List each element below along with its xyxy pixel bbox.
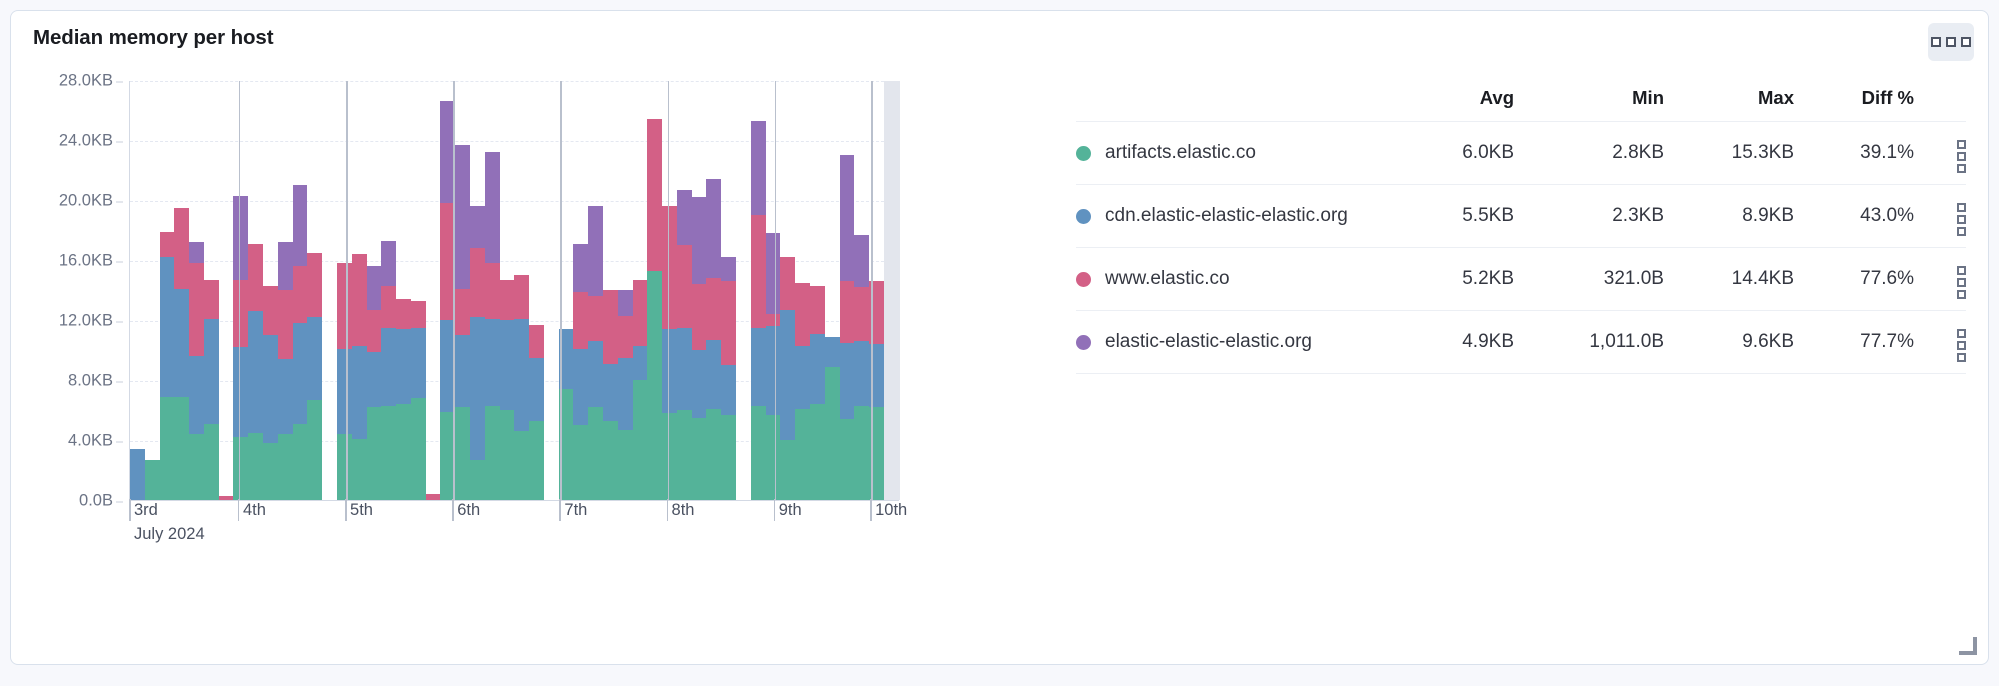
column-header-max[interactable]: Max xyxy=(1664,83,1794,122)
bar-segment xyxy=(840,419,855,500)
legend-max-value: 9.6KB xyxy=(1664,311,1794,374)
y-axis: 0.0B4.0KB8.0KB12.0KB16.0KB20.0KB24.0KB28… xyxy=(19,81,127,501)
bar-stack[interactable] xyxy=(189,81,204,500)
bar-segment xyxy=(840,155,855,281)
bar-segment xyxy=(160,232,175,258)
bar-segment xyxy=(470,248,485,317)
bar-segment xyxy=(160,397,175,501)
bar-segment xyxy=(751,406,766,501)
x-axis-tick-label: 3rd xyxy=(129,501,158,520)
bar-segment xyxy=(618,430,633,501)
bar-segment xyxy=(278,359,293,434)
y-axis-tick-label: 4.0KB xyxy=(68,432,113,451)
bar-stack[interactable] xyxy=(426,81,441,500)
bar-segment xyxy=(381,328,396,406)
bar-segment xyxy=(411,398,426,500)
series-color-swatch-icon xyxy=(1076,335,1091,350)
bar-segment xyxy=(455,407,470,500)
bar-stack[interactable] xyxy=(603,81,618,500)
bar-segment xyxy=(396,329,411,404)
bar-segment xyxy=(263,286,278,336)
legend-avg-value: 5.5KB xyxy=(1394,185,1514,248)
bar-stack[interactable] xyxy=(307,81,322,500)
bar-stack[interactable] xyxy=(233,81,248,500)
bar-stack[interactable] xyxy=(352,81,367,500)
bar-segment xyxy=(633,346,648,381)
bar-segment xyxy=(367,352,382,408)
bar-segment xyxy=(189,434,204,500)
series-color-swatch-icon xyxy=(1076,146,1091,161)
bar-stack[interactable] xyxy=(411,81,426,500)
bar-segment xyxy=(692,284,707,350)
series-color-swatch-icon xyxy=(1076,209,1091,224)
legend-max-value: 14.4KB xyxy=(1664,248,1794,311)
bar-segment xyxy=(352,254,367,346)
bar-stack[interactable] xyxy=(588,81,603,500)
bar-segment xyxy=(219,496,234,501)
x-axis-tick-label: 8th xyxy=(667,501,695,520)
table-row[interactable]: elastic-elastic-elastic.org4.9KB1,011.0B… xyxy=(1076,311,1966,374)
bar-stack[interactable] xyxy=(145,81,160,500)
column-header-diff[interactable]: Diff % xyxy=(1794,83,1914,122)
bar-segment xyxy=(337,434,352,500)
bar-segment xyxy=(307,400,322,501)
y-axis-tick-label: 20.0KB xyxy=(59,192,113,211)
bar-segment xyxy=(233,347,248,437)
legend-table-container: Avg Min Max Diff % artifacts.elastic.co6… xyxy=(1076,83,1966,374)
bar-segment xyxy=(263,443,278,500)
bar-stack[interactable] xyxy=(367,81,382,500)
bar-segment xyxy=(233,437,248,500)
bar-segment xyxy=(795,409,810,501)
bar-stack[interactable] xyxy=(633,81,648,500)
bar-segment xyxy=(766,233,781,314)
bar-segment xyxy=(470,460,485,501)
bar-segment xyxy=(500,410,515,500)
table-row[interactable]: cdn.elastic-elastic-elastic.org5.5KB2.3K… xyxy=(1076,185,1966,248)
bar-segment xyxy=(293,185,308,266)
y-axis-tick-label: 8.0KB xyxy=(68,372,113,391)
bar-segment xyxy=(381,286,396,328)
legend-min-value: 2.3KB xyxy=(1514,185,1664,248)
bar-segment xyxy=(647,119,662,271)
panel-resize-handle[interactable] xyxy=(1961,639,1977,655)
panel-header: Median memory per host xyxy=(11,11,1988,65)
panel-context-menu-button[interactable] xyxy=(1928,23,1974,61)
x-axis-sublabel: July 2024 xyxy=(129,525,205,544)
bar-segment xyxy=(692,197,707,284)
bar-segment xyxy=(780,440,795,500)
legend-diff-value: 77.7% xyxy=(1794,311,1914,374)
bar-segment xyxy=(840,281,855,343)
bar-stack[interactable] xyxy=(130,81,145,500)
bar-stack[interactable] xyxy=(677,81,692,500)
bar-segment xyxy=(751,121,766,216)
x-axis-tick-label: 5th xyxy=(345,501,373,520)
table-row[interactable]: artifacts.elastic.co6.0KB2.8KB15.3KB39.1… xyxy=(1076,122,1966,185)
bar-segment xyxy=(367,407,382,500)
bar-segment xyxy=(810,334,825,405)
bar-segment xyxy=(500,280,515,321)
bar-segment xyxy=(780,257,795,310)
bar-stack[interactable] xyxy=(529,81,544,500)
bar-segment xyxy=(352,439,367,501)
bar-segment xyxy=(396,299,411,329)
bar-series-group xyxy=(130,81,899,500)
bar-segment xyxy=(677,328,692,411)
day-separator-line xyxy=(668,81,670,500)
partial-bucket-overlay xyxy=(884,81,900,500)
bar-segment xyxy=(204,424,219,501)
legend-min-value: 2.8KB xyxy=(1514,122,1664,185)
legend-table-body: artifacts.elastic.co6.0KB2.8KB15.3KB39.1… xyxy=(1076,122,1966,374)
legend-series-label: cdn.elastic-elastic-elastic.org xyxy=(1105,205,1348,227)
bar-stack[interactable] xyxy=(219,81,234,500)
bar-segment xyxy=(721,365,736,415)
bar-segment xyxy=(337,349,352,435)
bar-segment xyxy=(278,434,293,500)
bar-segment xyxy=(263,335,278,443)
legend-series-label: elastic-elastic-elastic.org xyxy=(1105,331,1312,353)
bar-stack[interactable] xyxy=(381,81,396,500)
legend-max-value: 8.9KB xyxy=(1664,185,1794,248)
bar-segment xyxy=(618,316,633,358)
legend-diff-value: 43.0% xyxy=(1794,185,1914,248)
chart-container: 0.0B4.0KB8.0KB12.0KB16.0KB20.0KB24.0KB28… xyxy=(19,65,1059,665)
bar-segment xyxy=(411,301,426,328)
bar-stack[interactable] xyxy=(248,81,263,500)
bar-segment xyxy=(854,406,869,501)
legend-series-name-cell[interactable]: cdn.elastic-elastic-elastic.org xyxy=(1076,185,1394,248)
three-dots-horizontal-icon xyxy=(1961,37,1971,47)
bar-segment xyxy=(485,406,500,501)
bar-segment xyxy=(367,266,382,310)
bar-segment xyxy=(766,326,781,415)
bar-stack[interactable] xyxy=(647,81,662,500)
bar-stack[interactable] xyxy=(278,81,293,500)
three-dots-horizontal-icon xyxy=(1931,37,1941,47)
legend-diff-value: 77.6% xyxy=(1794,248,1914,311)
column-header-avg[interactable]: Avg xyxy=(1394,83,1514,122)
bar-segment xyxy=(588,407,603,500)
day-separator-line xyxy=(346,81,348,500)
panel-body: 0.0B4.0KB8.0KB12.0KB16.0KB20.0KB24.0KB28… xyxy=(11,65,1988,664)
bar-segment xyxy=(470,206,485,248)
bar-segment xyxy=(603,421,618,501)
bar-segment xyxy=(455,335,470,407)
bar-stack[interactable] xyxy=(721,81,736,500)
legend-table: Avg Min Max Diff % artifacts.elastic.co6… xyxy=(1076,83,1966,374)
x-axis-tick-label: 4th xyxy=(238,501,266,520)
bar-segment xyxy=(174,289,189,397)
bar-segment xyxy=(485,152,500,263)
bar-segment xyxy=(603,364,618,421)
bar-segment xyxy=(751,328,766,406)
bar-segment xyxy=(633,380,648,500)
bar-stack[interactable] xyxy=(322,81,337,500)
bar-segment xyxy=(662,413,677,500)
bar-segment xyxy=(514,431,529,500)
day-separator-line xyxy=(239,81,241,500)
bar-stack[interactable] xyxy=(573,81,588,500)
bar-stack[interactable] xyxy=(544,81,559,500)
bar-segment xyxy=(130,449,145,500)
y-axis-tick-label: 0.0B xyxy=(79,492,113,511)
bar-stack[interactable] xyxy=(810,81,825,500)
drag-handle-icon[interactable] xyxy=(1931,329,1966,362)
bar-segment xyxy=(677,245,692,328)
bar-segment xyxy=(706,340,721,409)
legend-series-name-cell[interactable]: artifacts.elastic.co xyxy=(1076,122,1394,185)
bar-segment xyxy=(810,404,825,500)
bar-stack[interactable] xyxy=(662,81,677,500)
bar-segment xyxy=(174,208,189,289)
bar-segment xyxy=(825,367,840,501)
page-title: Median memory per host xyxy=(33,26,273,50)
bar-segment xyxy=(825,337,840,367)
bar-segment xyxy=(573,292,588,349)
bar-stack[interactable] xyxy=(825,81,840,500)
legend-table-head: Avg Min Max Diff % xyxy=(1076,83,1966,122)
y-axis-tick-label: 24.0KB xyxy=(59,132,113,151)
bar-stack[interactable] xyxy=(766,81,781,500)
bar-segment xyxy=(470,317,485,460)
bar-segment xyxy=(145,460,160,501)
bar-segment xyxy=(500,320,515,410)
bar-segment xyxy=(706,179,721,278)
bar-segment xyxy=(810,286,825,334)
three-dots-horizontal-icon xyxy=(1946,37,1956,47)
column-header-min[interactable]: Min xyxy=(1514,83,1664,122)
bar-segment xyxy=(692,350,707,418)
legend-min-value: 1,011.0B xyxy=(1514,311,1664,374)
bar-segment xyxy=(618,290,633,316)
bar-segment xyxy=(573,244,588,292)
bar-segment xyxy=(662,206,677,329)
day-separator-line xyxy=(871,81,873,500)
bar-stack[interactable] xyxy=(204,81,219,500)
bar-segment xyxy=(248,311,263,433)
bar-stack[interactable] xyxy=(293,81,308,500)
bar-segment xyxy=(307,317,322,400)
drag-handle-icon[interactable] xyxy=(1931,203,1966,236)
legend-series-name-cell[interactable]: elastic-elastic-elastic.org xyxy=(1076,311,1394,374)
day-separator-line xyxy=(775,81,777,500)
bar-stack[interactable] xyxy=(736,81,751,500)
screen-root: Median memory per host 0.0B4.0KB8.0KB12.… xyxy=(0,0,1999,686)
legend-header-row: Avg Min Max Diff % xyxy=(1076,83,1966,122)
bar-stack[interactable] xyxy=(485,81,500,500)
x-axis-tick-label: 7th xyxy=(559,501,587,520)
bar-segment xyxy=(529,325,544,358)
bar-segment xyxy=(248,433,263,501)
bar-segment xyxy=(352,346,367,439)
bar-segment xyxy=(633,280,648,346)
bar-stack[interactable] xyxy=(500,81,515,500)
bar-segment xyxy=(411,328,426,399)
bar-segment xyxy=(692,418,707,501)
bar-segment xyxy=(160,257,175,397)
bar-segment xyxy=(189,263,204,356)
bar-stack[interactable] xyxy=(514,81,529,500)
y-axis-tick-label: 28.0KB xyxy=(59,72,113,91)
legend-avg-value: 6.0KB xyxy=(1394,122,1514,185)
bar-segment xyxy=(840,343,855,420)
bar-segment xyxy=(573,425,588,500)
drag-handle-icon[interactable] xyxy=(1931,266,1966,299)
bar-segment xyxy=(573,349,588,426)
bar-stack[interactable] xyxy=(692,81,707,500)
bar-segment xyxy=(337,263,352,349)
bar-segment xyxy=(293,323,308,424)
bar-stack[interactable] xyxy=(751,81,766,500)
bar-segment xyxy=(662,329,677,413)
bar-stack[interactable] xyxy=(780,81,795,500)
legend-max-value: 15.3KB xyxy=(1664,122,1794,185)
bar-segment xyxy=(529,421,544,501)
bar-stack[interactable] xyxy=(795,81,810,500)
bar-segment xyxy=(514,319,529,432)
bar-segment xyxy=(706,278,721,340)
bar-segment xyxy=(189,356,204,434)
bar-segment xyxy=(766,314,781,326)
bar-segment xyxy=(854,287,869,341)
x-axis-tick-label: 6th xyxy=(452,501,480,520)
bar-segment xyxy=(189,242,204,263)
bar-segment xyxy=(485,263,500,319)
column-header-series[interactable] xyxy=(1076,83,1394,122)
bar-segment xyxy=(233,196,248,280)
bar-segment xyxy=(248,244,263,312)
bar-segment xyxy=(455,289,470,336)
bar-stack[interactable] xyxy=(396,81,411,500)
bar-segment xyxy=(795,346,810,409)
legend-row-drag-cell[interactable] xyxy=(1914,122,1966,185)
bar-stack[interactable] xyxy=(337,81,352,500)
bar-segment xyxy=(854,235,869,288)
bar-segment xyxy=(795,283,810,346)
bar-segment xyxy=(381,406,396,501)
bar-segment xyxy=(293,266,308,323)
bar-segment xyxy=(766,415,781,501)
bar-segment xyxy=(677,190,692,246)
bar-stack[interactable] xyxy=(160,81,175,500)
legend-row-drag-cell[interactable] xyxy=(1914,185,1966,248)
bar-segment xyxy=(367,310,382,352)
drag-handle-icon[interactable] xyxy=(1931,140,1966,173)
bar-segment xyxy=(204,319,219,424)
bar-segment xyxy=(721,257,736,281)
legend-series-label: artifacts.elastic.co xyxy=(1105,142,1256,164)
bar-segment xyxy=(485,319,500,406)
day-separator-line xyxy=(453,81,455,500)
bar-segment xyxy=(307,253,322,318)
bar-segment xyxy=(588,341,603,407)
legend-series-label: www.elastic.co xyxy=(1105,268,1230,290)
bar-segment xyxy=(233,280,248,348)
y-axis-tick-label: 16.0KB xyxy=(59,252,113,271)
legend-series-name-cell[interactable]: www.elastic.co xyxy=(1076,248,1394,311)
bar-segment xyxy=(618,358,633,430)
bar-segment xyxy=(514,275,529,319)
bar-segment xyxy=(588,296,603,341)
bar-segment xyxy=(603,290,618,364)
bar-segment xyxy=(677,410,692,500)
legend-avg-value: 5.2KB xyxy=(1394,248,1514,311)
bar-segment xyxy=(529,358,544,421)
table-row[interactable]: www.elastic.co5.2KB321.0B14.4KB77.6% xyxy=(1076,248,1966,311)
bar-segment xyxy=(293,424,308,501)
bar-segment xyxy=(854,341,869,406)
legend-row-drag-cell[interactable] xyxy=(1914,311,1966,374)
column-header-handle xyxy=(1914,83,1966,122)
x-axis-tick-label: 10th xyxy=(870,501,907,520)
bar-segment xyxy=(278,242,293,290)
bar-segment xyxy=(278,290,293,359)
bar-segment xyxy=(647,271,662,501)
bar-stack[interactable] xyxy=(263,81,278,500)
bar-segment xyxy=(204,280,219,319)
bar-stack[interactable] xyxy=(470,81,485,500)
y-axis-tick-label: 12.0KB xyxy=(59,312,113,331)
legend-avg-value: 4.9KB xyxy=(1394,311,1514,374)
day-separator-line xyxy=(560,81,562,500)
bar-stack[interactable] xyxy=(174,81,189,500)
bar-segment xyxy=(721,281,736,365)
bar-segment xyxy=(588,206,603,296)
bar-segment xyxy=(426,494,441,500)
bar-segment xyxy=(780,310,795,441)
legend-min-value: 321.0B xyxy=(1514,248,1664,311)
bar-stack[interactable] xyxy=(840,81,855,500)
legend-diff-value: 39.1% xyxy=(1794,122,1914,185)
bar-segment xyxy=(721,415,736,501)
bar-segment xyxy=(396,404,411,500)
x-axis: 3rd4th5th6th7th8th9th10thJuly 2024 xyxy=(129,501,899,561)
bar-segment xyxy=(174,397,189,501)
legend-row-drag-cell[interactable] xyxy=(1914,248,1966,311)
bar-stack[interactable] xyxy=(854,81,869,500)
series-color-swatch-icon xyxy=(1076,272,1091,287)
bar-segment xyxy=(455,145,470,289)
bar-segment xyxy=(381,241,396,286)
bar-stack[interactable] xyxy=(618,81,633,500)
bar-segment xyxy=(751,215,766,328)
x-axis-tick-label: 9th xyxy=(774,501,802,520)
plot-area[interactable] xyxy=(129,81,899,501)
bar-stack[interactable] xyxy=(706,81,721,500)
dashboard-panel: Median memory per host 0.0B4.0KB8.0KB12.… xyxy=(10,10,1989,665)
bar-stack[interactable] xyxy=(455,81,470,500)
bar-segment xyxy=(706,409,721,501)
